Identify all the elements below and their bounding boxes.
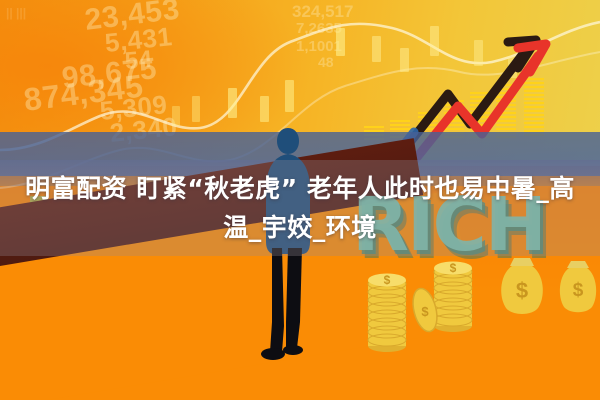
candlestick-bar: [228, 88, 237, 118]
svg-text:$: $: [421, 304, 429, 319]
candlestick-bar: [372, 36, 381, 62]
svg-text:$: $: [384, 273, 391, 287]
money-bag-icon: $: [496, 252, 548, 320]
money-bag-icon: $: [556, 256, 600, 318]
candlestick-bar: [192, 96, 200, 122]
svg-text:$: $: [573, 280, 584, 301]
svg-text:$: $: [516, 278, 528, 303]
coin-stack-icon: $: [366, 262, 408, 358]
promo-banner: 23,453 5,431 54 98,675 874,345 5,309 2,3…: [0, 0, 600, 400]
candlestick-bar: [336, 28, 345, 56]
page-title: 明富配资 盯紧“秋老虎” 老年人此时也易中暑_高温_宇姣_环境: [16, 169, 584, 247]
candlestick-bar: [172, 106, 180, 126]
candlestick-bar: [285, 80, 294, 112]
coin-icon: $: [410, 286, 440, 334]
svg-text:$: $: [450, 261, 457, 275]
headline-overlay: 明富配资 盯紧“秋老虎” 老年人此时也易中暑_高温_宇姣_环境: [0, 160, 600, 256]
candlestick-bar: [260, 96, 269, 122]
